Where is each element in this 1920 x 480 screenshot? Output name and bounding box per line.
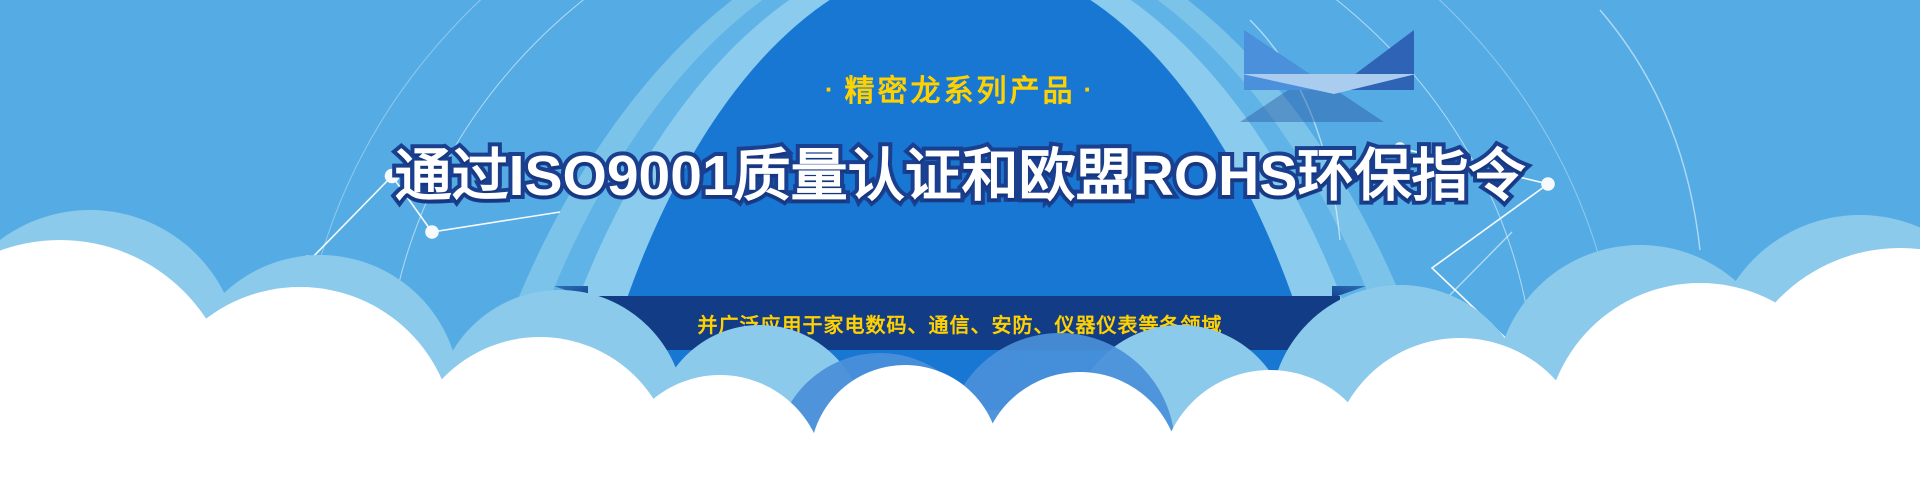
eyebrow-text: 精密龙系列产品 xyxy=(845,75,1076,108)
promo-banner: ·精密龙系列产品· 通过ISO9001质量认证和欧盟ROHS环保指令 并广泛应用… xyxy=(0,0,1920,480)
eyebrow-right-mark: · xyxy=(1076,76,1104,102)
eyebrow-left-mark: · xyxy=(817,76,845,102)
clouds-icon xyxy=(0,180,1920,480)
banner-content: ·精密龙系列产品· 通过ISO9001质量认证和欧盟ROHS环保指令 xyxy=(0,0,1920,209)
banner-eyebrow: ·精密龙系列产品· xyxy=(0,76,1920,107)
